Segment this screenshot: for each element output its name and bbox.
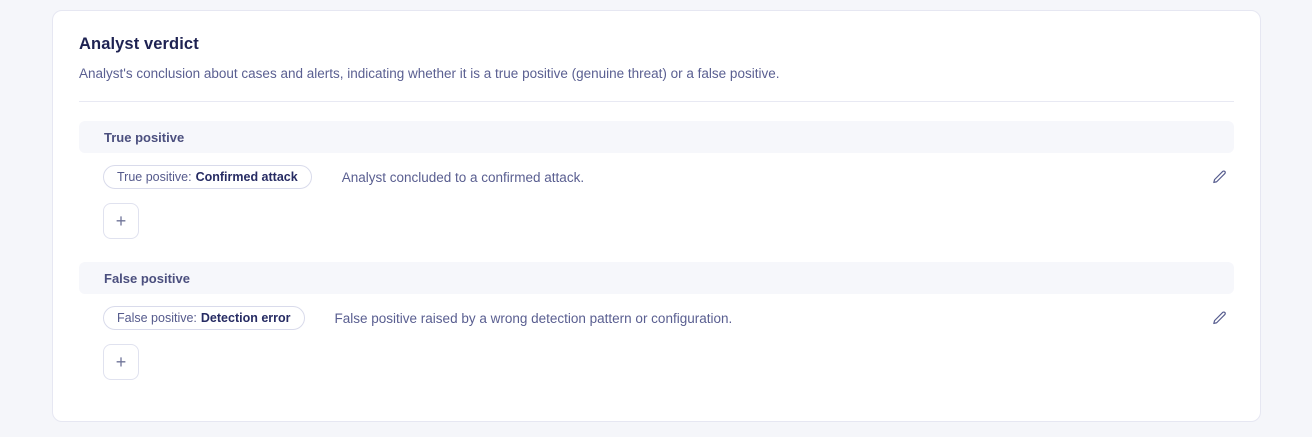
pencil-icon (1211, 169, 1228, 186)
verdict-description: Analyst concluded to a confirmed attack. (342, 170, 1206, 185)
pill-value: Detection error (201, 311, 291, 325)
pill-prefix: True positive: (117, 170, 192, 184)
section-header-true-positive: True positive (79, 121, 1234, 153)
page-description: Analyst's conclusion about cases and ale… (79, 65, 1234, 83)
add-true-positive-button[interactable]: + (103, 203, 139, 239)
add-row: + (79, 342, 1234, 384)
pill-prefix: False positive: (117, 311, 197, 325)
pencil-icon (1211, 310, 1228, 327)
section-false-positive: False positive False positive: Detection… (79, 262, 1234, 384)
verdict-pill[interactable]: True positive: Confirmed attack (103, 165, 312, 189)
section-header-false-positive: False positive (79, 262, 1234, 294)
page-title: Analyst verdict (79, 35, 1234, 54)
analyst-verdict-card: Analyst verdict Analyst's conclusion abo… (52, 10, 1261, 422)
add-false-positive-button[interactable]: + (103, 344, 139, 380)
edit-verdict-button[interactable] (1206, 305, 1232, 331)
add-row: + (79, 201, 1234, 243)
section-label: False positive (104, 271, 190, 286)
section-label: True positive (104, 130, 184, 145)
edit-verdict-button[interactable] (1206, 164, 1232, 190)
pill-value: Confirmed attack (196, 170, 298, 184)
verdict-row: False positive: Detection error False po… (79, 294, 1234, 342)
verdict-row: True positive: Confirmed attack Analyst … (79, 153, 1234, 201)
section-true-positive: True positive True positive: Confirmed a… (79, 121, 1234, 243)
verdict-pill[interactable]: False positive: Detection error (103, 306, 305, 330)
card-header: Analyst verdict Analyst's conclusion abo… (79, 11, 1234, 102)
verdict-description: False positive raised by a wrong detecti… (335, 311, 1206, 326)
